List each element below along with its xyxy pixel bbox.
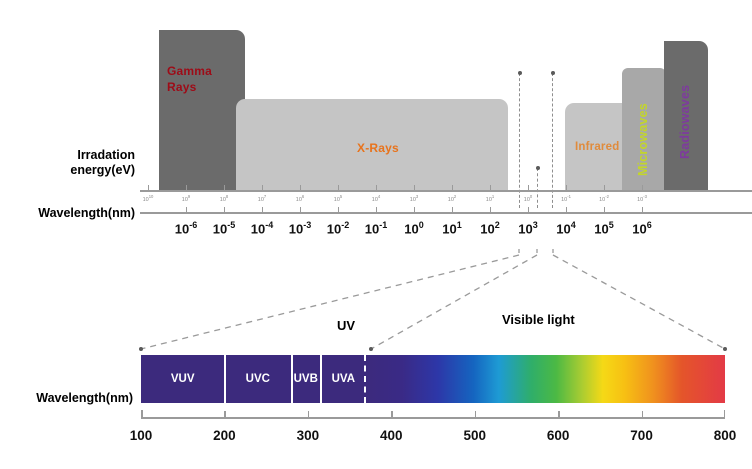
energy-tick-label: 101: [486, 195, 494, 203]
wavelength-tick: [300, 207, 301, 212]
spectrum-tick-label: 500: [463, 428, 486, 443]
energy-tick-label: 104: [372, 195, 380, 203]
wavelength-tick: [338, 207, 339, 212]
wavelength-tick: [642, 207, 643, 212]
energy-axis-line: [140, 190, 752, 192]
wavelength-tick-label: 10-2: [327, 221, 349, 235]
spectrum-anchor-dot-right: [723, 347, 727, 351]
wavelength-tick: [452, 207, 453, 212]
uv-band-label-vuv: VUV: [171, 373, 195, 385]
uv-band-label-uva: UVA: [332, 373, 355, 385]
energy-tick-label: 109: [182, 195, 190, 203]
label-wavelength-bottom: Wavelength(nm): [5, 391, 133, 406]
spectrum-tick: [475, 411, 477, 418]
wavelength-tick-label: 10-4: [251, 221, 273, 235]
uv-zone: VUVUVCUVBUVA: [141, 355, 366, 403]
spectrum-anchor-dot-mid: [369, 347, 373, 351]
wavelength-tick-label: 100: [404, 221, 423, 235]
uv-band-separator: [224, 355, 226, 403]
spectrum-axis-cap-right: [724, 410, 726, 418]
energy-tick: [338, 185, 339, 190]
band-x-rays: X-Rays: [236, 99, 508, 190]
wavelength-tick-label: 105: [594, 221, 613, 235]
energy-tick-label: 1010: [143, 195, 154, 203]
uv-band-label-uvc: UVC: [246, 373, 270, 385]
spectrum-diagram: Gamma Rays X-Rays Infrared Microwaves Ra…: [0, 0, 752, 469]
label-irradiation-energy: Irradation energy(eV): [10, 148, 135, 179]
energy-tick-label: 102: [448, 195, 456, 203]
band-infrared-label: Infrared: [575, 141, 619, 153]
label-wavelength-top: Wavelength(nm): [10, 206, 135, 221]
wavelength-tick: [186, 207, 187, 212]
spectrum-tick: [224, 411, 226, 418]
label-uv: UV: [337, 318, 355, 333]
leader-dot-mid: [536, 166, 540, 170]
wavelength-tick-label: 10-1: [365, 221, 387, 235]
energy-tick-label: 103: [410, 195, 418, 203]
energy-tick-label: 106: [296, 195, 304, 203]
band-microwaves-label: Microwaves: [636, 103, 650, 176]
leader-vline-left: [519, 73, 520, 208]
energy-tick: [186, 185, 187, 190]
label-irradiation-energy-text: Irradation energy(eV): [70, 148, 135, 177]
spectrum-bar: VUVUVCUVBUVA: [141, 355, 725, 403]
energy-tick: [642, 185, 643, 190]
wavelength-tick-label: 10-6: [175, 221, 197, 235]
band-radiowaves-label: Radiowaves: [678, 85, 692, 159]
wavelength-tick-label: 104: [556, 221, 575, 235]
visible-light-gradient: [366, 355, 725, 403]
label-wavelength-top-text: Wavelength(nm): [38, 206, 135, 220]
band-microwaves: Microwaves: [622, 68, 666, 190]
band-gamma-rays: Gamma Rays: [159, 30, 245, 190]
wavelength-axis-line-top: [140, 212, 752, 214]
energy-tick: [224, 185, 225, 190]
wavelength-tick-label: 101: [442, 221, 461, 235]
energy-tick-label: 10-3: [637, 195, 647, 203]
spectrum-tick-label: 800: [714, 428, 737, 443]
wavelength-tick: [376, 207, 377, 212]
uv-visible-boundary: [364, 355, 366, 403]
spectrum-tick: [642, 411, 644, 418]
uv-band-label-uvb: UVB: [294, 373, 318, 385]
energy-tick: [262, 185, 263, 190]
energy-tick: [528, 185, 529, 190]
energy-tick: [376, 185, 377, 190]
wavelength-tick-label: 10-3: [289, 221, 311, 235]
spectrum-tick-label: 200: [213, 428, 236, 443]
wavelength-tick: [604, 207, 605, 212]
spectrum-tick-label: 100: [130, 428, 153, 443]
spectrum-tick-label: 400: [380, 428, 403, 443]
energy-tick-label: 10-2: [599, 195, 609, 203]
spectrum-tick-label: 600: [547, 428, 570, 443]
wavelength-tick: [566, 207, 567, 212]
energy-tick: [148, 185, 149, 190]
leader-dot-right: [551, 71, 555, 75]
uv-band-separator: [291, 355, 293, 403]
energy-tick: [566, 185, 567, 190]
wavelength-tick: [414, 207, 415, 212]
wavelength-tick-label: 103: [518, 221, 537, 235]
energy-tick: [490, 185, 491, 190]
energy-tick-label: 105: [334, 195, 342, 203]
energy-tick-label: 108: [220, 195, 228, 203]
spectrum-tick-label: 700: [630, 428, 653, 443]
spectrum-tick-label: 300: [297, 428, 320, 443]
spectrum-tick: [391, 411, 393, 418]
wavelength-tick: [528, 207, 529, 212]
spectrum-tick: [558, 411, 560, 418]
energy-tick: [604, 185, 605, 190]
spectrum-anchor-dot-left: [139, 347, 143, 351]
spectrum-axis-line: [141, 417, 725, 419]
label-wavelength-bottom-text: Wavelength(nm): [36, 391, 133, 405]
spectrum-axis-cap-left: [141, 410, 143, 418]
energy-tick: [414, 185, 415, 190]
energy-tick-label: 100: [524, 195, 532, 203]
leader-vline-mid: [537, 168, 538, 208]
energy-tick: [452, 185, 453, 190]
uv-band-separator: [320, 355, 322, 403]
wavelength-tick: [262, 207, 263, 212]
energy-tick-label: 10-1: [561, 195, 571, 203]
energy-tick-label: 107: [258, 195, 266, 203]
wavelength-tick-label: 10-5: [213, 221, 235, 235]
wavelength-tick: [490, 207, 491, 212]
band-radiowaves: Radiowaves: [664, 41, 708, 190]
band-x-rays-label: X-Rays: [357, 141, 399, 155]
wavelength-tick-label: 102: [480, 221, 499, 235]
wavelength-tick-label: 106: [632, 221, 651, 235]
energy-tick: [300, 185, 301, 190]
leader-dot-left: [518, 71, 522, 75]
wavelength-tick: [224, 207, 225, 212]
label-visible-light: Visible light: [502, 312, 575, 327]
band-gamma-rays-label: Gamma Rays: [167, 63, 227, 95]
leader-vline-right: [552, 73, 553, 208]
spectrum-tick: [308, 411, 310, 418]
